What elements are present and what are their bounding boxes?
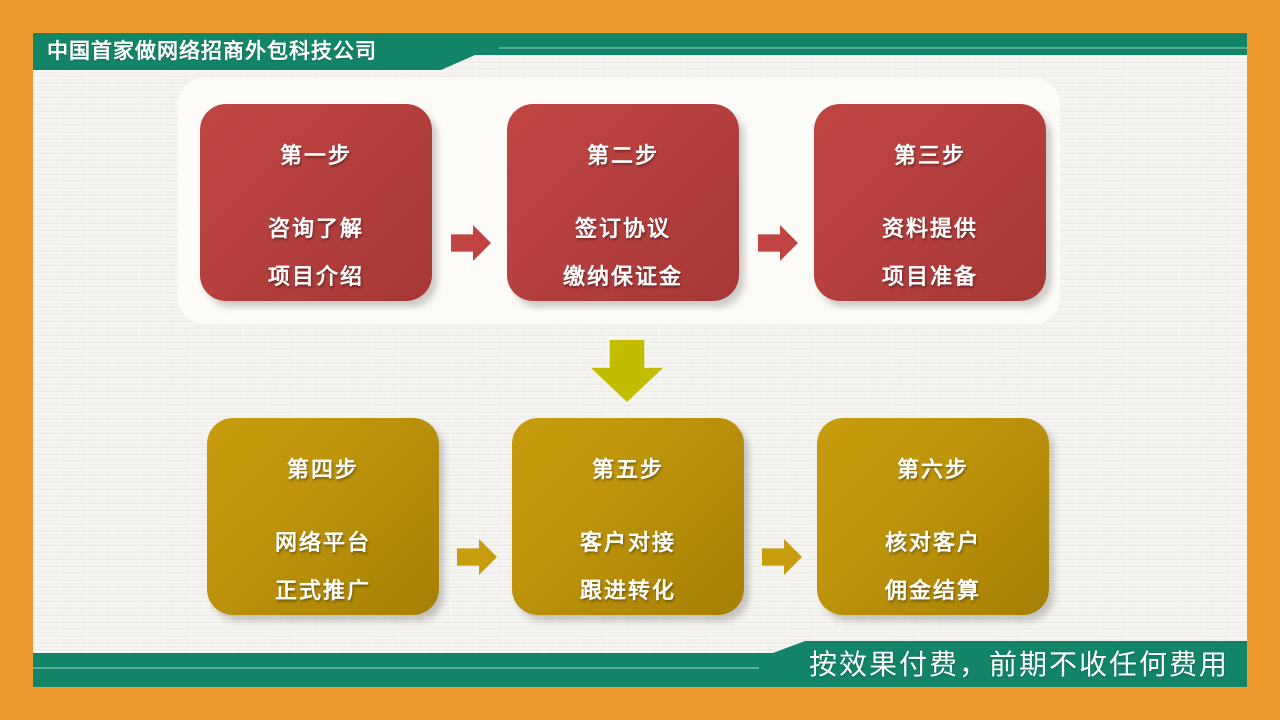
arrow-row1-to-row2-icon: [591, 340, 663, 402]
step-6-line-2: 佣金结算: [817, 573, 1049, 605]
step-2-head: 第二步: [507, 138, 739, 170]
slide-root: 中国首家做网络招商外包科技公司 第一步 咨询了解 项目介绍 第二步 签订协议 缴…: [0, 0, 1280, 720]
step-box-6[interactable]: 第六步 核对客户 佣金结算: [817, 418, 1049, 615]
step-6-line-1: 核对客户: [817, 525, 1049, 557]
footer-tagline: 按效果付费，前期不收任何费用: [809, 644, 1229, 686]
step-5-line-1: 客户对接: [512, 525, 744, 557]
slide-canvas: 中国首家做网络招商外包科技公司 第一步 咨询了解 项目介绍 第二步 签订协议 缴…: [33, 33, 1247, 687]
step-4-line-2: 正式推广: [207, 573, 439, 605]
step-2-line-2: 缴纳保证金: [507, 259, 739, 291]
step-box-3[interactable]: 第三步 资料提供 项目准备: [814, 104, 1046, 301]
step-1-line-1: 咨询了解: [200, 211, 432, 243]
step-box-5[interactable]: 第五步 客户对接 跟进转化: [512, 418, 744, 615]
footer-banner-hairline: [33, 667, 759, 669]
arrow-step4-to-step5-icon: [457, 539, 497, 575]
step-box-1[interactable]: 第一步 咨询了解 项目介绍: [200, 104, 432, 301]
page-title: 中国首家做网络招商外包科技公司: [47, 34, 377, 70]
header-banner: 中国首家做网络招商外包科技公司: [33, 33, 1247, 79]
step-3-line-1: 资料提供: [814, 211, 1046, 243]
step-4-head: 第四步: [207, 452, 439, 484]
step-5-line-2: 跟进转化: [512, 573, 744, 605]
footer-banner: 按效果付费，前期不收任何费用: [33, 641, 1247, 687]
step-1-head: 第一步: [200, 138, 432, 170]
step-box-4[interactable]: 第四步 网络平台 正式推广: [207, 418, 439, 615]
step-box-2[interactable]: 第二步 签订协议 缴纳保证金: [507, 104, 739, 301]
step-2-line-1: 签订协议: [507, 211, 739, 243]
step-4-line-1: 网络平台: [207, 525, 439, 557]
step-5-head: 第五步: [512, 452, 744, 484]
header-banner-hairline: [499, 47, 1247, 49]
arrow-step5-to-step6-icon: [762, 539, 802, 575]
step-1-line-2: 项目介绍: [200, 259, 432, 291]
step-3-head: 第三步: [814, 138, 1046, 170]
step-6-head: 第六步: [817, 452, 1049, 484]
step-3-line-2: 项目准备: [814, 259, 1046, 291]
